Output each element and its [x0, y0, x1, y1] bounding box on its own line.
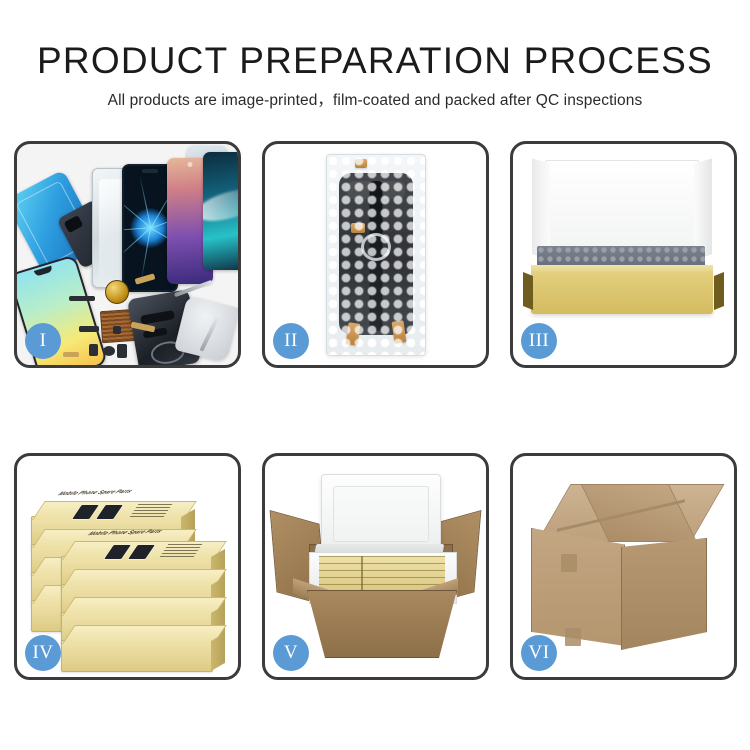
- foam-cooler-lid-icon: [321, 474, 441, 554]
- step-badge-4: IV: [25, 635, 61, 671]
- antenna-strip-icon: [79, 326, 99, 332]
- box-print-label: Mobile Phone Spare Parts: [55, 489, 135, 497]
- box-stack-icon: Mobile Phone Spare Parts Mobile P: [31, 482, 231, 668]
- process-step-grid: I II: [0, 0, 750, 750]
- phone-screen-teal-icon: [203, 152, 241, 270]
- step-badge-6: VI: [521, 635, 557, 671]
- kraft-inner-box-icon: [531, 272, 713, 314]
- sim-tray-icon: [117, 344, 127, 358]
- vibration-motor-icon: [105, 280, 129, 304]
- earpiece-icon: [103, 346, 115, 356]
- step-badge-1: I: [25, 323, 61, 359]
- step-panel-6: VI: [510, 453, 737, 680]
- step-panel-1: I: [14, 141, 241, 368]
- step-badge-5: V: [273, 635, 309, 671]
- step-badge-3: III: [521, 323, 557, 359]
- tape-piece-icon: [391, 320, 406, 343]
- speaker-module-icon: [69, 296, 95, 301]
- button-flex-icon: [63, 352, 79, 357]
- screw-plate-icon: [113, 326, 121, 334]
- tape-piece-icon: [345, 322, 360, 345]
- carton-tape-icon: [565, 628, 581, 646]
- step-badge-2: II: [273, 323, 309, 359]
- step-panel-5: V: [262, 453, 489, 680]
- tape-piece-icon: [351, 223, 365, 233]
- box-edge-icon: [714, 272, 724, 310]
- camera-module-icon: [89, 344, 98, 356]
- product-preparation-infographic: PRODUCT PREPARATION PROCESS All products…: [0, 0, 750, 750]
- step-panel-2: II: [262, 141, 489, 368]
- carton-tape-icon: [561, 554, 577, 572]
- spare-part-box: [61, 640, 213, 672]
- carton-side-right-icon: [621, 538, 707, 650]
- step-panel-3: III: [510, 141, 737, 368]
- step-panel-4: Mobile Phone Spare Parts Mobile P: [14, 453, 241, 680]
- tape-piece-icon: [355, 159, 367, 168]
- part-coil-icon: [361, 233, 391, 261]
- carton-front-wall-icon: [307, 590, 457, 658]
- bubble-wrap-bag-icon: [326, 154, 426, 356]
